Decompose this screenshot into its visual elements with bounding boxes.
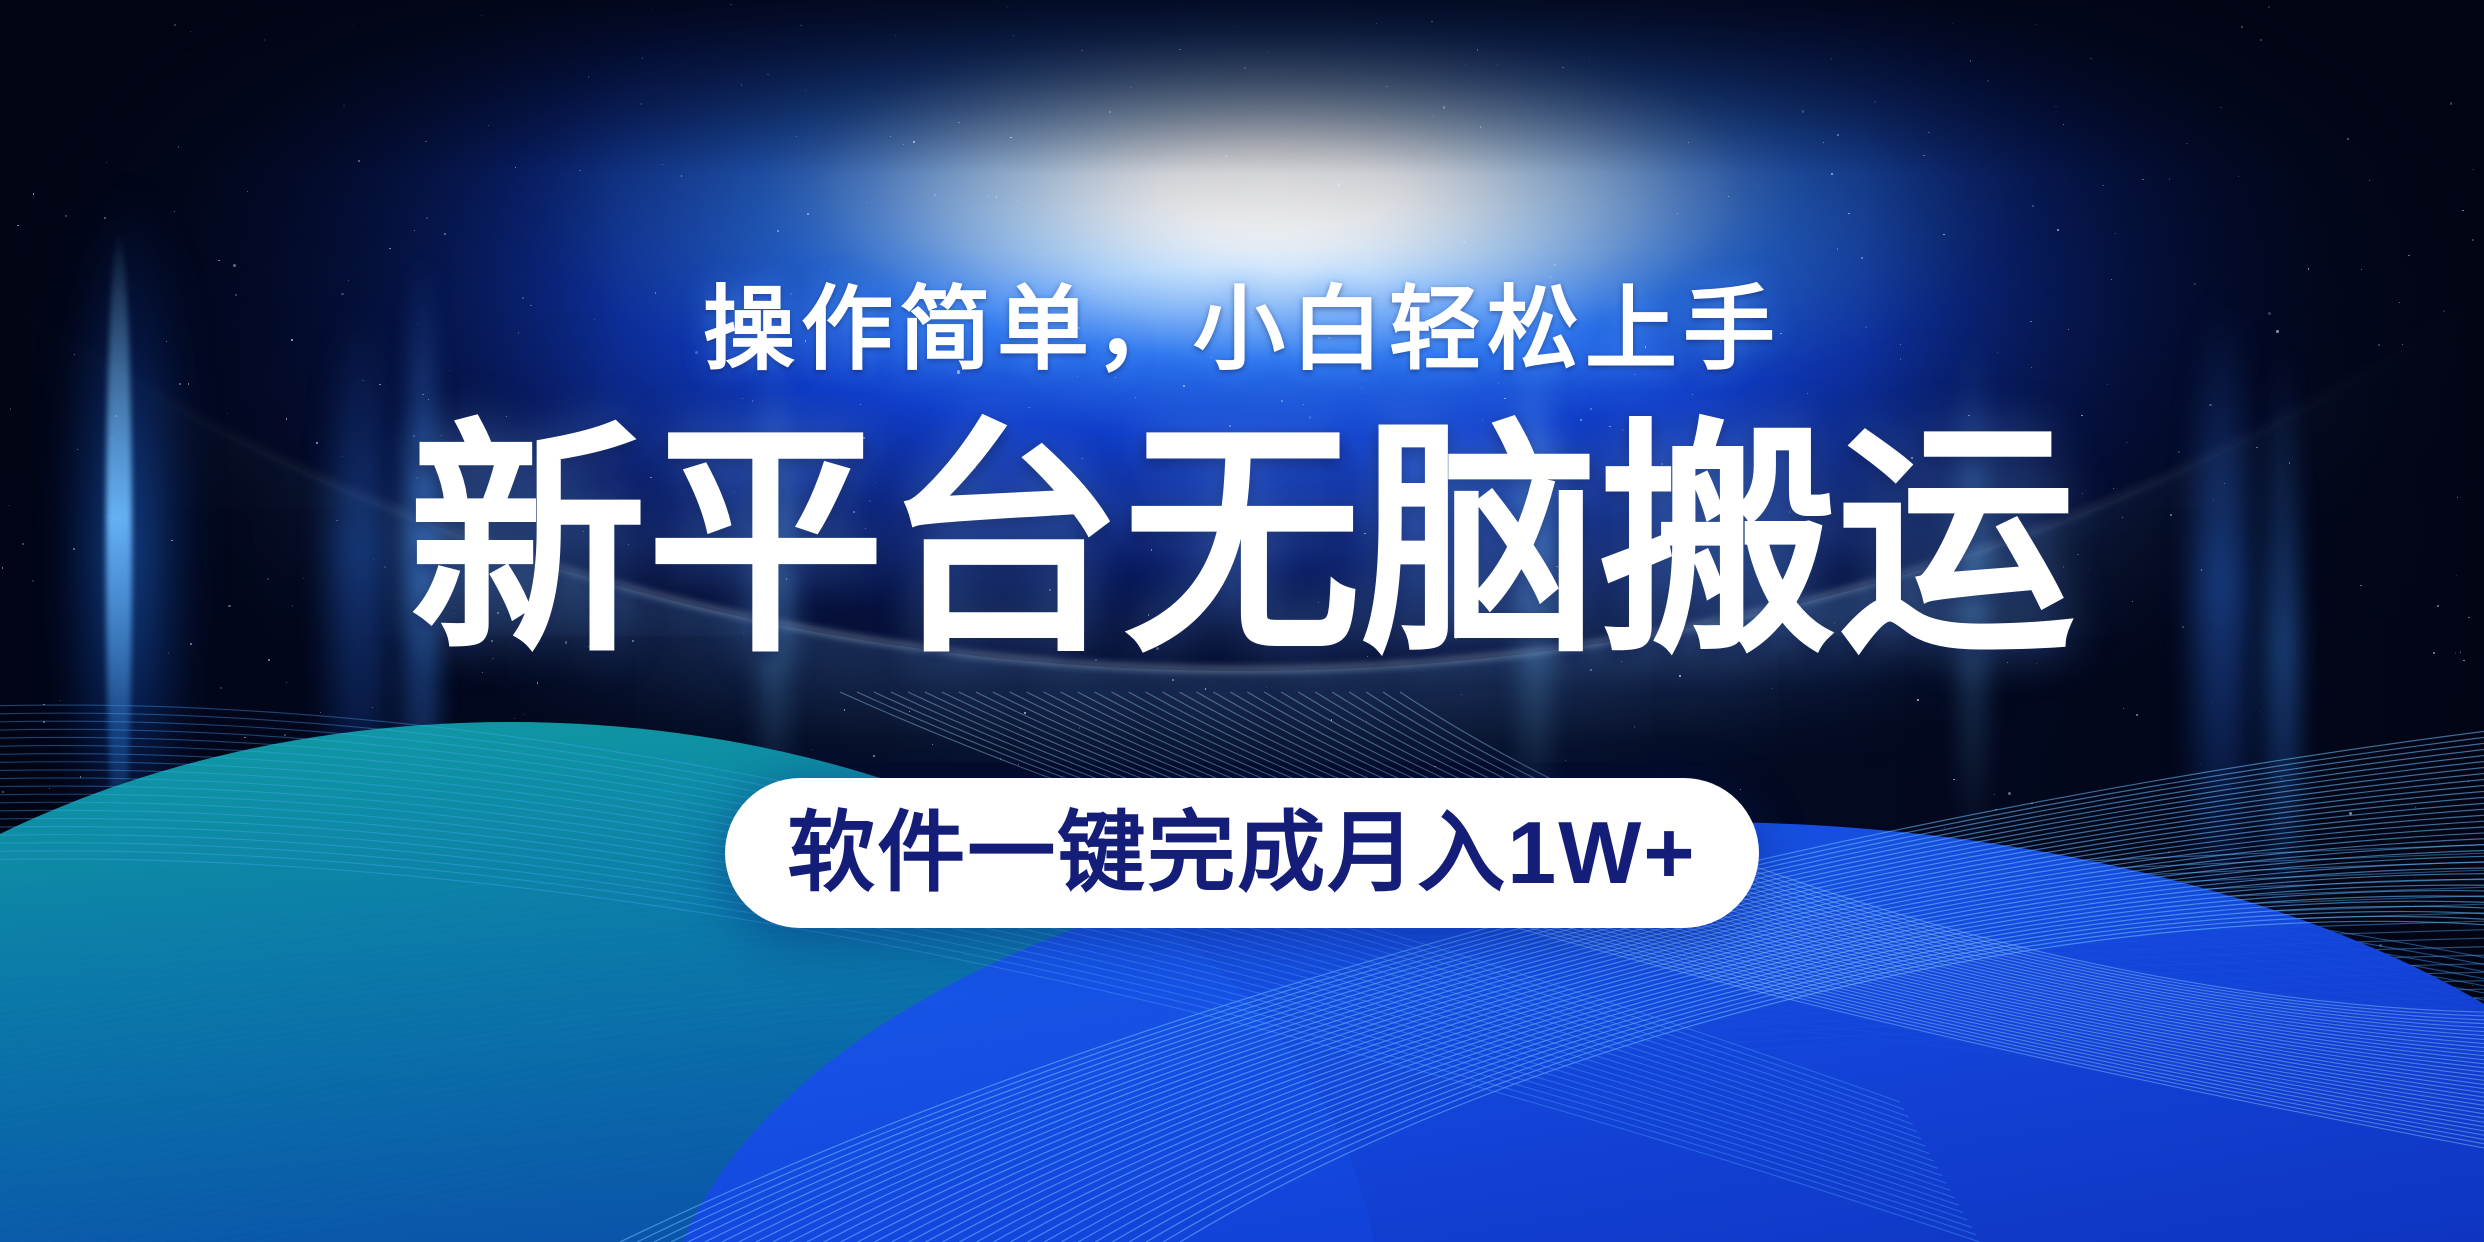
banner-subtitle: 操作简单，小白轻松上手 — [0, 284, 2484, 376]
offer-pill-badge: 软件一键完成月入1W+ — [725, 778, 1758, 928]
banner-headline: 新平台无脑搬运 — [50, 418, 2435, 666]
promo-banner: 操作简单，小白轻松上手 新平台无脑搬运 软件一键完成月入1W+ — [0, 0, 2484, 1242]
pill-container: 软件一键完成月入1W+ — [0, 778, 2484, 928]
